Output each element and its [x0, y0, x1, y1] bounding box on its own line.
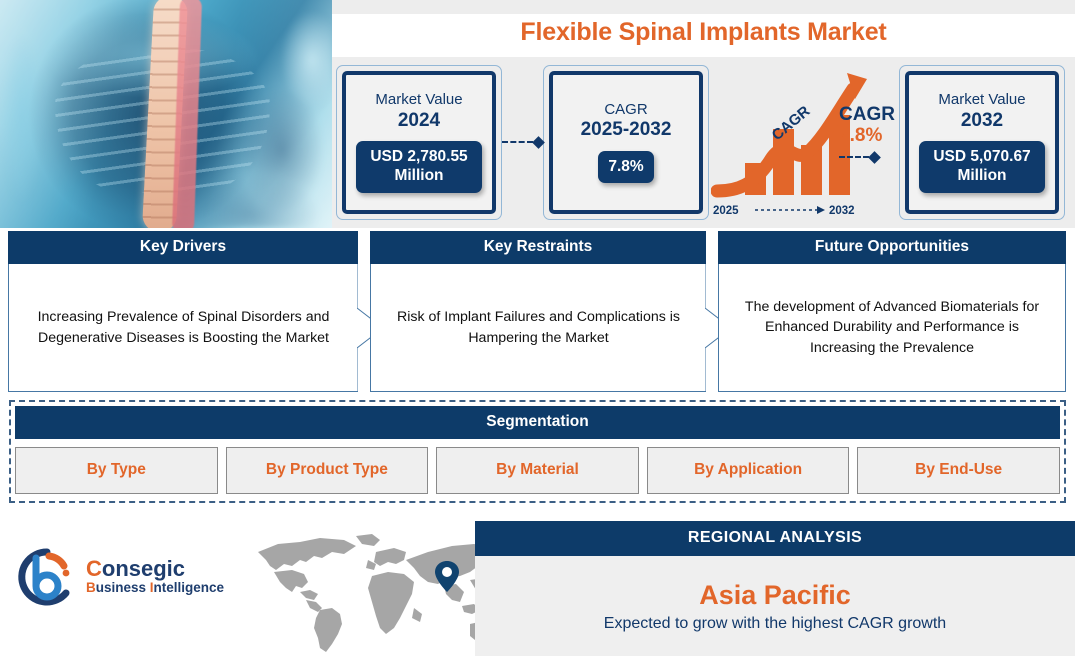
- segmentation-item-by-end-use[interactable]: By End-Use: [857, 447, 1060, 494]
- factor-body: Risk of Implant Failures and Complicatio…: [370, 264, 706, 392]
- footer-section: Consegic Business Intelligence: [0, 512, 1075, 660]
- connector-dashed-line: [839, 156, 869, 158]
- tagline-ntelligence: ntelligence: [154, 580, 225, 595]
- cagr-side-labels: CAGR 7.8%: [839, 105, 895, 162]
- metric-card-inner: CAGR 2025-2032 7.8%: [549, 71, 703, 214]
- chart-axis-end-label: 2032: [829, 205, 855, 217]
- segmentation-heading: Segmentation: [15, 406, 1060, 439]
- brand-name-line1: Consegic: [86, 557, 224, 580]
- chart-axis-start-label: 2025: [713, 205, 739, 217]
- metric-card-inner: Market Value 2032 USD 5,070.67 Million: [905, 71, 1059, 214]
- metric-value-pill: USD 5,070.67 Million: [919, 141, 1045, 192]
- metric-card-inner: Market Value 2024 USD 2,780.55 Million: [342, 71, 496, 214]
- factor-text: Increasing Prevalence of Spinal Disorder…: [23, 307, 344, 347]
- market-factors-row: Key Drivers Increasing Prevalence of Spi…: [0, 231, 1075, 391]
- segmentation-item-by-application[interactable]: By Application: [647, 447, 850, 494]
- metric-label: Market Value: [375, 91, 462, 109]
- chart-axis-arrow: [817, 206, 825, 214]
- metric-value-pill: USD 2,780.55 Million: [356, 141, 482, 192]
- brand-name-rest: onsegic: [102, 556, 185, 581]
- connector-diamond-icon: [868, 151, 881, 164]
- connector-dashed-line: [502, 141, 533, 143]
- factor-heading: Future Opportunities: [718, 231, 1066, 264]
- regional-body: Asia Pacific Expected to grow with the h…: [475, 556, 1075, 656]
- tagline-b: B: [86, 580, 96, 595]
- regional-analysis-panel: REGIONAL ANALYSIS Asia Pacific Expected …: [475, 521, 1075, 660]
- regional-region-name: Asia Pacific: [699, 579, 851, 611]
- cagr-side-label: CAGR: [839, 105, 895, 125]
- world-map-svg: [248, 530, 513, 658]
- factor-text: The development of Advanced Biomaterials…: [733, 297, 1051, 357]
- tagline-usiness: usiness: [96, 580, 150, 595]
- metric-year: 2032: [961, 110, 1003, 132]
- brand-logo[interactable]: Consegic Business Intelligence: [16, 546, 224, 608]
- regional-heading: REGIONAL ANALYSIS: [475, 521, 1075, 556]
- segmentation-items: By Type By Product Type By Material By A…: [15, 447, 1060, 494]
- factor-body: Increasing Prevalence of Spinal Disorder…: [8, 264, 358, 392]
- spinal-anatomy-image: [0, 0, 332, 228]
- factor-card-key-drivers: Key Drivers Increasing Prevalence of Spi…: [8, 231, 358, 392]
- connector-1: [502, 138, 543, 147]
- metric-year: 2025-2032: [581, 119, 672, 141]
- cagr-growth-chart-icon: CAGR 2025 2032 CAGR 7.8%: [711, 67, 897, 217]
- factor-heading: Key Drivers: [8, 231, 358, 264]
- metric-label: CAGR: [604, 101, 647, 119]
- metric-card-market-value-2032: Market Value 2032 USD 5,070.67 Million: [899, 65, 1065, 220]
- image-sheen: [0, 0, 332, 228]
- metric-card-cagr: CAGR 2025-2032 7.8%: [543, 65, 709, 220]
- factor-card-key-restraints: Key Restraints Risk of Implant Failures …: [370, 231, 706, 392]
- factor-card-future-opportunities: Future Opportunities The development of …: [718, 231, 1066, 392]
- page-title: Flexible Spinal Implants Market: [332, 14, 1075, 57]
- factor-body: The development of Advanced Biomaterials…: [718, 264, 1066, 392]
- regional-note: Expected to grow with the highest CAGR g…: [604, 615, 946, 633]
- metric-card-market-value-2024: Market Value 2024 USD 2,780.55 Million: [336, 65, 502, 220]
- hero-section: Flexible Spinal Implants Market Market V…: [0, 0, 1075, 228]
- factor-heading: Key Restraints: [370, 231, 706, 264]
- world-map-graphic: [248, 530, 513, 658]
- segmentation-item-by-product-type[interactable]: By Product Type: [226, 447, 429, 494]
- brand-tagline: Business Intelligence: [86, 580, 224, 596]
- connector-2: [839, 153, 895, 162]
- brand-initial: C: [86, 556, 102, 581]
- segmentation-panel: Segmentation By Type By Product Type By …: [9, 400, 1066, 503]
- cagr-side-value: 7.8%: [839, 125, 895, 147]
- brand-name: Consegic Business Intelligence: [86, 557, 224, 596]
- metric-value-pill: 7.8%: [598, 151, 653, 184]
- metric-year: 2024: [398, 110, 440, 132]
- factor-text: Risk of Implant Failures and Complicatio…: [385, 307, 692, 347]
- segmentation-item-by-type[interactable]: By Type: [15, 447, 218, 494]
- segmentation-item-by-material[interactable]: By Material: [436, 447, 639, 494]
- metric-label: Market Value: [938, 91, 1025, 109]
- header-panel: Flexible Spinal Implants Market Market V…: [332, 0, 1075, 228]
- metric-cards-row: Market Value 2024 USD 2,780.55 Million C…: [332, 62, 1075, 222]
- consegic-logo-icon: [16, 546, 78, 608]
- map-landmasses: [258, 534, 510, 654]
